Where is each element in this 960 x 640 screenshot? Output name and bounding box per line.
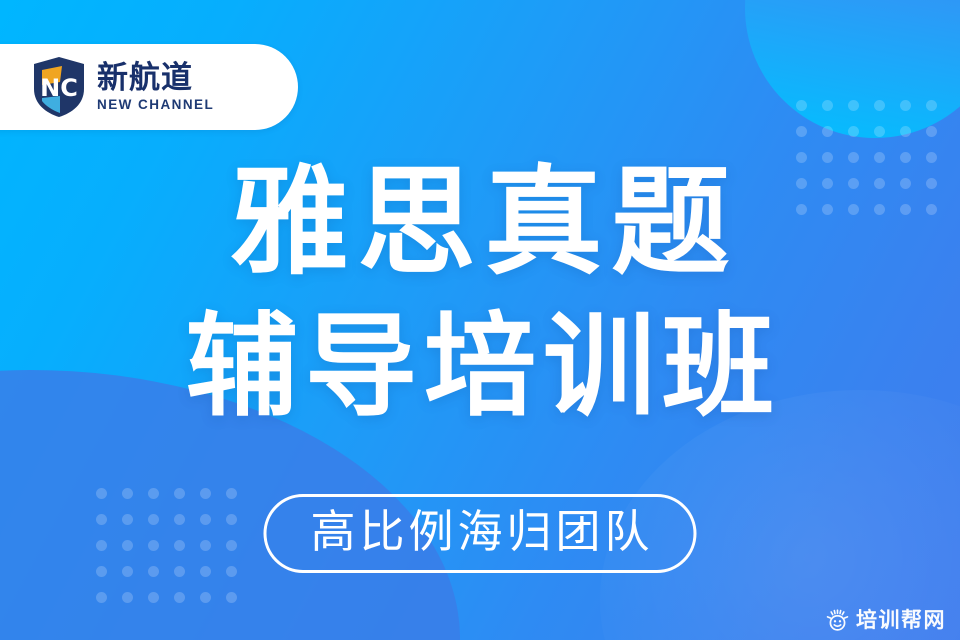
shield-letters: NC — [40, 74, 78, 102]
promo-banner: NC 新航道 NEW CHANNEL 雅思真题 辅导培训班 高比例海归团队 — [0, 0, 960, 640]
headline-block: 雅思真题 辅导培训班 — [0, 148, 960, 438]
decorative-dot — [174, 540, 185, 551]
decorative-dot — [926, 100, 937, 111]
decorative-dot — [122, 514, 133, 525]
decorative-dot — [200, 488, 211, 499]
decorative-dot — [122, 566, 133, 577]
decorative-dot — [174, 514, 185, 525]
subtitle-pill: 高比例海归团队 — [263, 494, 696, 573]
decorative-dot — [96, 488, 107, 499]
decorative-dot — [796, 100, 807, 111]
decorative-dot — [148, 592, 159, 603]
decorative-dot — [174, 566, 185, 577]
headline-line-1: 雅思真题 — [0, 148, 960, 297]
decorative-dot — [122, 488, 133, 499]
shield-logo-icon: NC — [32, 56, 86, 118]
watermark-text: 培训帮网 — [856, 610, 946, 631]
decorative-dot — [200, 540, 211, 551]
decorative-dot — [96, 592, 107, 603]
decorative-dot — [226, 488, 237, 499]
decorative-dot — [926, 126, 937, 137]
decorative-dot — [822, 126, 833, 137]
decorative-dot — [96, 514, 107, 525]
decorative-dot — [122, 592, 133, 603]
decorative-dot — [200, 514, 211, 525]
decorative-dot — [148, 566, 159, 577]
decorative-dot — [96, 566, 107, 577]
decorative-dot-grid-bottom-left — [96, 488, 266, 618]
decorative-dot — [226, 566, 237, 577]
brand-logo-pill: NC 新航道 NEW CHANNEL — [0, 44, 298, 130]
decorative-dot — [200, 566, 211, 577]
decorative-dot — [226, 514, 237, 525]
headline-line-2: 辅导培训班 — [0, 297, 960, 438]
decorative-dot — [848, 126, 859, 137]
decorative-dot — [900, 126, 911, 137]
decorative-dot — [148, 540, 159, 551]
decorative-dot — [796, 126, 807, 137]
site-watermark: 培训帮网 — [826, 609, 946, 632]
brand-name-cn: 新航道 — [97, 62, 214, 94]
decorative-dot — [900, 100, 911, 111]
decorative-dot — [96, 540, 107, 551]
decorative-dot — [848, 100, 859, 111]
decorative-dot — [874, 100, 885, 111]
decorative-dot — [226, 540, 237, 551]
decorative-dot — [226, 592, 237, 603]
decorative-dot — [200, 592, 211, 603]
brand-name-en: NEW CHANNEL — [97, 97, 214, 112]
sun-face-icon — [826, 609, 849, 632]
decorative-dot — [874, 126, 885, 137]
decorative-circle-top-right — [745, 0, 960, 138]
decorative-dot — [174, 488, 185, 499]
decorative-dot — [148, 514, 159, 525]
decorative-dot — [174, 592, 185, 603]
decorative-dot — [122, 540, 133, 551]
decorative-dot — [148, 488, 159, 499]
decorative-dot — [822, 100, 833, 111]
